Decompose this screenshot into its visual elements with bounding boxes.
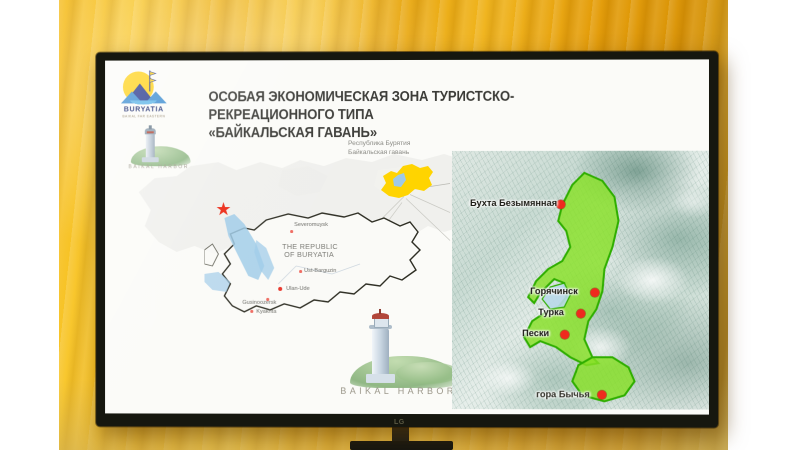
city-label-ust-barguzin: Ust-Barguzin bbox=[304, 268, 336, 274]
lighthouse-spire-large bbox=[379, 309, 381, 314]
region-callout-line2: Байкальская гавань bbox=[348, 148, 410, 157]
presentation-display[interactable]: LG BURYATIA BAIKAL FAR EASTERN bbox=[96, 51, 718, 427]
city-dot-severomuysk bbox=[290, 230, 293, 233]
map-marker-gora-bychya[interactable] bbox=[597, 390, 606, 399]
city-label-severomuysk: Severomuysk bbox=[294, 222, 328, 228]
city-dot-gusinoozersk bbox=[266, 298, 269, 301]
city-label-gusinoozersk: Gusinoozersk bbox=[242, 300, 276, 306]
map-label-buhta-bezymyannaya: Бухта Безымянная bbox=[470, 198, 557, 208]
region-callout-label: Республика Бурятия Байкальская гавань bbox=[348, 139, 410, 157]
country-label-line2: OF BURYATIA bbox=[284, 250, 334, 259]
map-label-peski: Пески bbox=[522, 328, 549, 338]
display-brand-logo: LG bbox=[394, 419, 405, 426]
city-label-kyakhta: Kyakhta bbox=[256, 309, 276, 315]
screenshot-scene: LG BURYATIA BAIKAL FAR EASTERN bbox=[0, 0, 800, 450]
map-marker-goryachinsk[interactable] bbox=[590, 288, 599, 297]
buryatia-overview-map: Severomuysk THE REPUBLIC OF BURYATIA Ust… bbox=[204, 210, 454, 325]
map-marker-peski[interactable] bbox=[560, 330, 569, 339]
lighthouse-vignette-large: BAIKAL HARBOR bbox=[336, 312, 461, 404]
map-label-turka: Турка bbox=[538, 307, 564, 317]
map-marker-turka[interactable] bbox=[576, 309, 585, 318]
brand-caption-large: BAIKAL HARBOR bbox=[336, 386, 461, 396]
city-label-ulan-ude: Ulan-Ude bbox=[286, 286, 310, 292]
map-label-gora-bychya: гора Бычья bbox=[536, 389, 590, 399]
display-screen: BURYATIA BAIKAL FAR EASTERN BAIKAL HARBO… bbox=[105, 59, 709, 414]
slide-canvas: BURYATIA BAIKAL FAR EASTERN BAIKAL HARBO… bbox=[105, 59, 709, 414]
baikal-harbour-relief-map: Бухта Безымянная Горячинск Турка Пески г… bbox=[452, 151, 709, 410]
city-dot-ulan-ude bbox=[278, 287, 282, 291]
lighthouse-tower-large bbox=[372, 328, 389, 378]
region-callout-line1: Республика Бурятия bbox=[348, 139, 410, 148]
monitor-stand-base bbox=[350, 441, 453, 450]
map-marker-buhta-bezymyannaya[interactable] bbox=[556, 200, 565, 209]
city-dot-kyakhta bbox=[250, 310, 253, 313]
lighthouse-lamp-room bbox=[374, 318, 389, 328]
buryatia-highlight-shape bbox=[379, 164, 434, 200]
city-dot-ust-barguzin bbox=[299, 270, 302, 273]
sez-zone-overlay bbox=[452, 151, 709, 410]
right-white-margin bbox=[740, 0, 800, 450]
lighthouse-base-large bbox=[366, 374, 395, 383]
left-white-margin bbox=[0, 0, 59, 450]
map-label-goryachinsk: Горячинск bbox=[530, 286, 578, 296]
hill-shape-front bbox=[396, 362, 460, 384]
